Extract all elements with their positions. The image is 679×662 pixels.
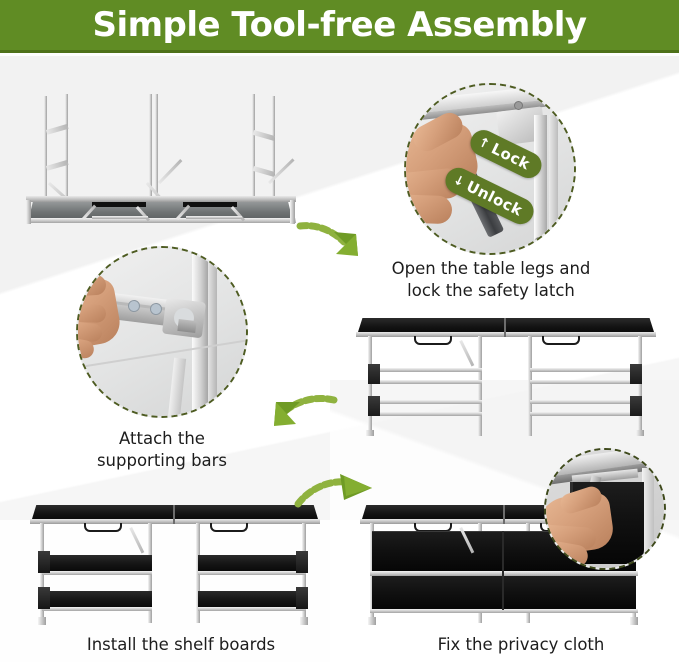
caption-install-shelf-boards: Install the shelf boards — [36, 634, 326, 656]
caption-open-legs: Open the table legs and lock the safety … — [370, 258, 612, 302]
inset-attach-privacy-cloth — [544, 448, 666, 570]
arrow-step1-to-step2-icon — [296, 218, 376, 266]
arrow-step2-to-step3-icon — [256, 386, 340, 436]
page-title: Simple Tool-free Assembly — [92, 5, 586, 45]
inset-supporting-bar — [76, 246, 248, 418]
inset-safety-latch: ↑ Lock ↓ Unlock — [404, 83, 576, 255]
arrow-down-icon: ↓ — [451, 173, 467, 189]
header-banner: Simple Tool-free Assembly — [0, 0, 679, 53]
caption-attach-bars-line1: Attach the — [62, 428, 262, 450]
caption-open-legs-line1: Open the table legs and — [370, 258, 612, 280]
caption-attach-bars-line2: supporting bars — [62, 450, 262, 472]
infographic-page: Simple Tool-free Assembly — [0, 0, 679, 662]
caption-attach-bars: Attach the supporting bars — [62, 428, 262, 472]
caption-open-legs-line2: lock the safety latch — [370, 280, 612, 302]
arrow-up-icon: ↑ — [476, 135, 492, 151]
figure-table-with-support-rails — [352, 318, 662, 438]
figure-folded-table-frame — [28, 90, 318, 230]
figure-table-with-shelf-boards — [26, 505, 326, 625]
caption-fix-privacy-cloth: Fix the privacy cloth — [376, 634, 666, 656]
